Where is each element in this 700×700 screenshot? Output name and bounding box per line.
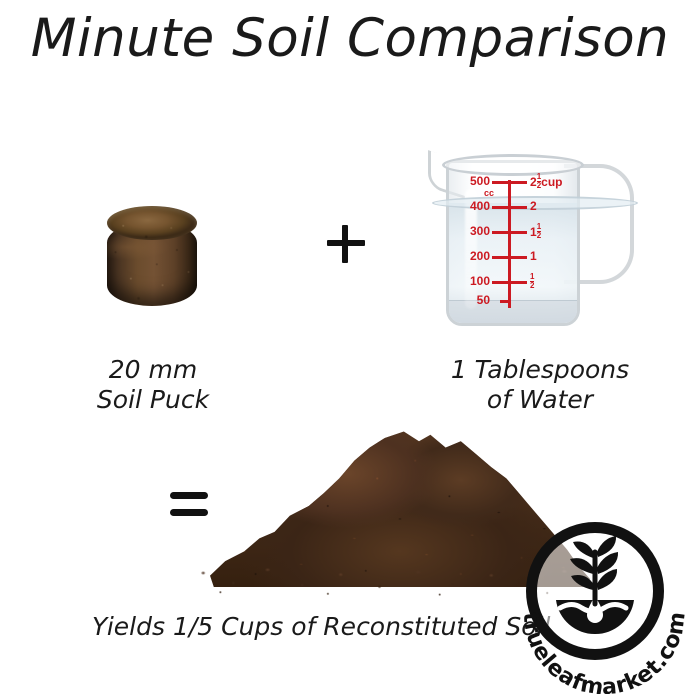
water-label-line1: 1 Tablespoons: [420, 355, 660, 385]
water-surface-line: [432, 196, 638, 210]
infographic-canvas: Minute Soil Comparison 20 mm Soil Puck 5…: [0, 0, 700, 700]
measuring-cup-image: 500 cc 400 300 200 100 50 212cup 2 112 1…: [428, 148, 638, 328]
brand-logo[interactable]: trueleafmarket.com: [516, 518, 692, 694]
page-title: Minute Soil Comparison: [0, 8, 700, 69]
water-label-line2: of Water: [420, 385, 660, 415]
soil-puck-label: 20 mm Soil Puck: [48, 355, 258, 415]
logo-url-label: trueleafmarket.com: [518, 610, 691, 694]
soil-puck-top-face: [107, 206, 197, 240]
soil-puck-label-line2: Soil Puck: [48, 385, 258, 415]
logo-url-text: trueleafmarket.com: [516, 518, 692, 694]
measuring-cup-rim: [442, 154, 584, 176]
measuring-cup-body: [446, 160, 580, 326]
plus-operator-icon: [324, 222, 368, 266]
soil-puck-label-line1: 20 mm: [48, 355, 258, 385]
water-label: 1 Tablespoons of Water: [420, 355, 660, 415]
equals-operator-icon: [170, 492, 208, 518]
soil-puck-image: [104, 206, 200, 316]
